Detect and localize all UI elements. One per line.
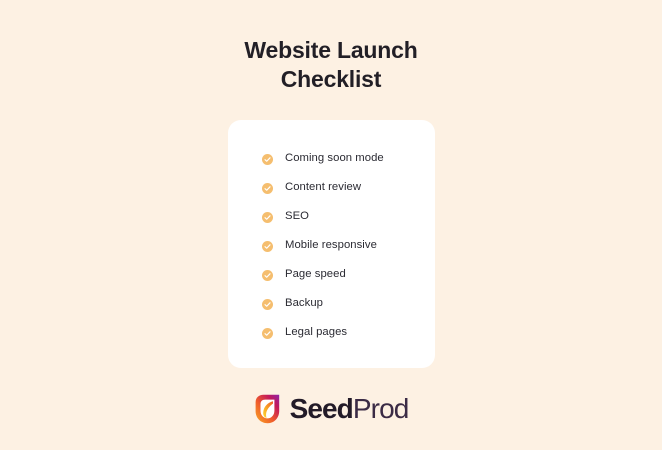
checklist-card: Coming soon modeContent reviewSEOMobile … xyxy=(228,120,435,368)
checklist-item-label: Coming soon mode xyxy=(285,151,384,165)
page-canvas: Website Launch Checklist Coming soon mod… xyxy=(0,0,662,450)
checklist-item[interactable]: Legal pages xyxy=(262,317,384,346)
page-title-line-2: Checklist xyxy=(0,65,662,94)
checklist-item[interactable]: Backup xyxy=(262,288,384,317)
check-circle-icon xyxy=(262,181,273,192)
check-circle-icon xyxy=(262,152,273,163)
checklist-item-label: Page speed xyxy=(285,267,346,281)
check-circle-icon xyxy=(262,210,273,221)
page-title-line-1: Website Launch xyxy=(0,36,662,65)
checklist-item[interactable]: Page speed xyxy=(262,259,384,288)
checklist-item[interactable]: Mobile responsive xyxy=(262,230,384,259)
checklist-item-label: SEO xyxy=(285,209,309,223)
check-circle-icon xyxy=(262,297,273,308)
check-circle-icon xyxy=(262,239,273,250)
seedprod-wordmark: SeedProd xyxy=(290,394,409,424)
checklist-item-label: Legal pages xyxy=(285,325,347,339)
checklist-item[interactable]: Coming soon mode xyxy=(262,143,384,172)
checklist-item[interactable]: SEO xyxy=(262,201,384,230)
logo-text-prod: Prod xyxy=(353,393,409,424)
checklist: Coming soon modeContent reviewSEOMobile … xyxy=(262,143,384,346)
check-circle-icon xyxy=(262,268,273,279)
checklist-item-label: Content review xyxy=(285,180,361,194)
logo-text-seed: Seed xyxy=(290,393,353,424)
checklist-item[interactable]: Content review xyxy=(262,172,384,201)
page-title: Website Launch Checklist xyxy=(0,36,662,94)
seedprod-leaf-icon xyxy=(254,394,281,424)
checklist-item-label: Mobile responsive xyxy=(285,238,377,252)
seedprod-logo: SeedProd xyxy=(0,394,662,424)
check-circle-icon xyxy=(262,326,273,337)
checklist-item-label: Backup xyxy=(285,296,323,310)
